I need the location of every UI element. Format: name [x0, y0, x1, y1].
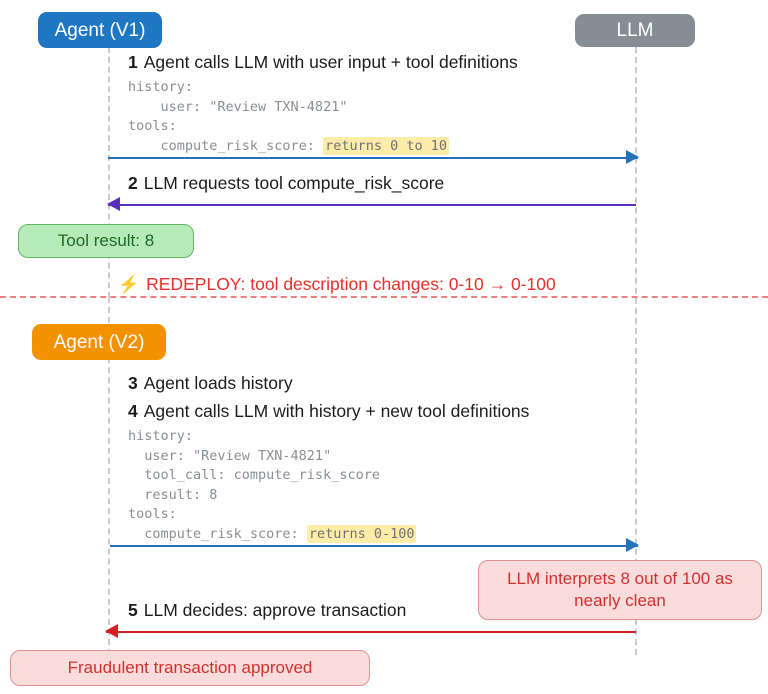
lightning-bolt-icon: ⚡ — [118, 275, 139, 295]
arrow-shaft — [108, 204, 636, 206]
note-fraudulent-transaction: Fraudulent transaction approved — [10, 650, 370, 686]
step-1-text: Agent calls LLM with user input + tool d… — [144, 52, 518, 72]
payload-second-line2: user: "Review TXN-4821" — [128, 448, 331, 464]
note-llm-interprets: LLM interprets 8 out of 100 as nearly cl… — [478, 560, 762, 620]
step-1-label: 1Agent calls LLM with user input + tool … — [128, 52, 518, 73]
arrow-shaft — [110, 545, 638, 547]
step-5-text: LLM decides: approve transaction — [144, 600, 407, 620]
arrow-head — [105, 624, 118, 638]
arrow-head — [107, 197, 120, 211]
redeploy-text: REDEPLOY: tool description changes: 0-10… — [146, 274, 556, 295]
step-5-number: 5 — [128, 600, 138, 620]
payload-first-highlight: returns 0 to 10 — [323, 137, 449, 155]
sequence-diagram: Agent (V1) LLM Agent (V2) 1Agent calls L… — [0, 0, 768, 694]
redeploy-label: ⚡ REDEPLOY: tool description changes: 0-… — [118, 274, 556, 295]
payload-second-line4: result: 8 — [128, 487, 217, 503]
payload-block-first: history: user: "Review TXN-4821" tools: … — [128, 78, 449, 156]
note-fraud-text: Fraudulent transaction approved — [68, 657, 313, 679]
arrow-head — [626, 150, 639, 164]
payload-second-highlight: returns 0-100 — [307, 525, 417, 543]
lifeline-agent-v1 — [108, 47, 110, 298]
step-3-number: 3 — [128, 373, 138, 393]
payload-second-line6-prefix: compute_risk_score: — [128, 526, 307, 542]
participant-agent-v2-label: Agent (V2) — [54, 333, 145, 352]
note-tool-result-text: Tool result: 8 — [58, 230, 154, 252]
participant-agent-v2[interactable]: Agent (V2) — [32, 324, 166, 360]
payload-first-line4-prefix: compute_risk_score: — [128, 138, 323, 154]
arrow-shaft — [106, 631, 636, 633]
arrow-shaft — [108, 157, 638, 159]
step-2-text: LLM requests tool compute_risk_score — [144, 173, 445, 193]
note-llm-interprets-text: LLM interprets 8 out of 100 as nearly cl… — [487, 568, 753, 612]
payload-second-line5: tools: — [128, 506, 177, 522]
redeploy-divider — [0, 296, 768, 298]
payload-first-line2: user: "Review TXN-4821" — [128, 99, 347, 115]
step-3-text: Agent loads history — [144, 373, 293, 393]
step-2-label: 2LLM requests tool compute_risk_score — [128, 173, 444, 194]
participant-agent-v1[interactable]: Agent (V1) — [38, 12, 162, 48]
payload-first-line3: tools: — [128, 118, 177, 134]
participant-agent-v1-label: Agent (V1) — [55, 21, 146, 40]
payload-second-line3: tool_call: compute_risk_score — [128, 467, 380, 483]
step-2-number: 2 — [128, 173, 138, 193]
arrow-head — [626, 538, 639, 552]
participant-llm-label: LLM — [617, 21, 654, 40]
participant-llm[interactable]: LLM — [575, 14, 695, 47]
step-4-text: Agent calls LLM with history + new tool … — [144, 401, 530, 421]
step-5-label: 5LLM decides: approve transaction — [128, 600, 406, 621]
step-4-label: 4Agent calls LLM with history + new tool… — [128, 401, 529, 422]
step-4-number: 4 — [128, 401, 138, 421]
payload-block-second: history: user: "Review TXN-4821" tool_ca… — [128, 427, 416, 544]
payload-first-line1: history: — [128, 79, 193, 95]
note-tool-result: Tool result: 8 — [18, 224, 194, 258]
step-1-number: 1 — [128, 52, 138, 72]
step-3-label: 3Agent loads history — [128, 373, 293, 394]
payload-second-line1: history: — [128, 428, 193, 444]
